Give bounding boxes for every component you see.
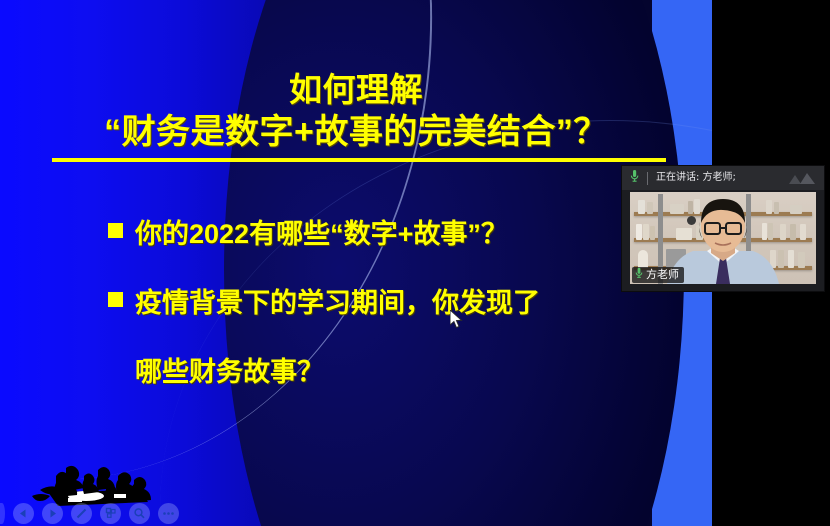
square-bullet-icon xyxy=(108,292,123,307)
participant-name-badge: 方老师 xyxy=(632,267,684,283)
pen-tool-button[interactable] xyxy=(71,503,92,524)
square-bullet-icon xyxy=(108,223,123,238)
participant-name: 方老师 xyxy=(646,269,679,281)
video-feed[interactable]: 方老师 xyxy=(630,192,816,284)
next-slide-button[interactable] xyxy=(42,503,63,524)
grid-icon xyxy=(105,507,117,519)
more-options-button[interactable] xyxy=(158,503,179,524)
zoom-video-panel[interactable]: 正在讲话: 方老师; xyxy=(622,166,824,291)
active-speaker-label: 正在讲话: 方老师; xyxy=(656,172,736,184)
slide-title-line-2: “财务是数字+故事的完美结合”？ xyxy=(40,111,672,154)
presentation-slide[interactable]: 如何理解 “财务是数字+故事的完美结合”？ 你的2022有哪些“数字+故事”？ … xyxy=(0,0,712,526)
bullet-text: 哪些财务故事？ xyxy=(135,350,324,395)
screen-root: 如何理解 “财务是数字+故事的完美结合”？ 你的2022有哪些“数字+故事”？ … xyxy=(0,0,830,526)
video-panel-header[interactable]: 正在讲话: 方老师; xyxy=(622,166,824,190)
toolbar-edge-clipped-button[interactable] xyxy=(0,503,5,524)
triangle-left-icon xyxy=(18,508,29,519)
ellipsis-icon xyxy=(162,511,175,516)
list-item: 疫情背景下的学习期间，你发现了 xyxy=(108,281,668,326)
microphone-icon xyxy=(630,169,639,188)
slide-grid-button[interactable] xyxy=(100,503,121,524)
bullet-text: 你的2022有哪些“数字+故事”？ xyxy=(135,212,508,257)
magnifier-icon xyxy=(133,507,146,520)
slide-body: 你的2022有哪些“数字+故事”？ 疫情背景下的学习期间，你发现了 哪些财务故事… xyxy=(108,212,668,419)
chevrons-icon[interactable] xyxy=(789,171,815,189)
header-divider xyxy=(647,172,648,185)
slide-title: 如何理解 “财务是数字+故事的完美结合”？ xyxy=(40,68,672,154)
pen-icon xyxy=(75,507,88,520)
microphone-icon xyxy=(635,266,643,284)
title-underline xyxy=(52,158,666,162)
previous-slide-button[interactable] xyxy=(13,503,34,524)
list-item: 你的2022有哪些“数字+故事”？ xyxy=(108,212,668,257)
presentation-toolbar[interactable] xyxy=(0,502,179,524)
list-item-continuation: 哪些财务故事？ xyxy=(108,350,668,395)
zoom-tool-button[interactable] xyxy=(129,503,150,524)
triangle-right-icon xyxy=(47,508,58,519)
bullet-text: 疫情背景下的学习期间，你发现了 xyxy=(135,281,540,326)
slide-title-line-1: 如何理解 xyxy=(40,68,672,111)
